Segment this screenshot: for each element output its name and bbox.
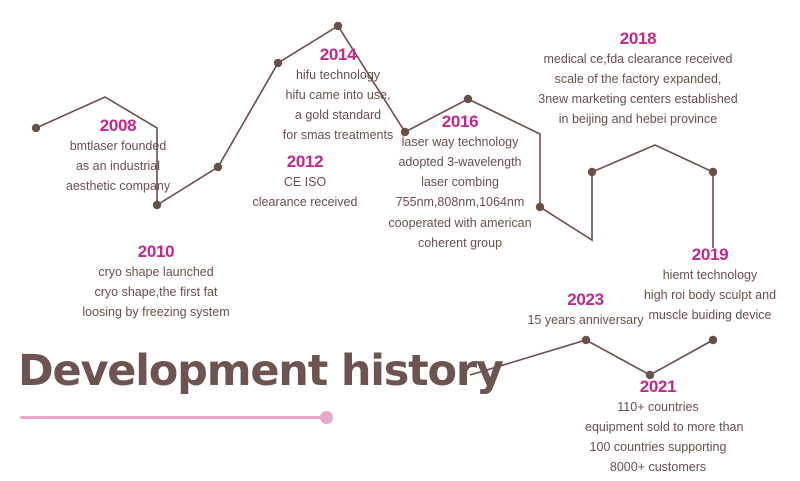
milestone-2008: 2008 bmtlaser founded as an industrial a… <box>43 117 193 196</box>
desc-line: 3new marketing centers established <box>530 89 746 109</box>
title-underline-bar <box>20 416 328 419</box>
page-title: Development history <box>18 350 503 393</box>
milestone-2012: 2012 CE ISO clearance received <box>240 153 370 212</box>
desc-line: cryo shape launched <box>66 262 246 282</box>
desc-line: coherent group <box>380 233 540 253</box>
milestone-year-2016: 2016 <box>380 113 540 132</box>
desc-line: as an industrial <box>43 156 193 176</box>
desc-line: adopted 3-wavelength <box>380 152 540 172</box>
desc-line: medical ce,fda clearance received <box>530 49 746 69</box>
desc-line: CE ISO <box>240 172 370 192</box>
desc-line: hiemt technology <box>636 265 784 285</box>
desc-line: scale of the factory expanded, <box>530 69 746 89</box>
milestone-2010: 2010 cryo shape launched cryo shape,the … <box>66 243 246 322</box>
milestone-year-2021: 2021 <box>585 378 731 397</box>
vertex-dot <box>709 168 717 176</box>
milestone-2021: 2021 110+ countries equipment sold to mo… <box>585 378 731 478</box>
vertex-dot <box>32 124 40 132</box>
desc-line: hifu technology <box>272 65 404 85</box>
title-underline <box>18 411 503 425</box>
milestone-year-2010: 2010 <box>66 243 246 262</box>
desc-line: 15 years anniversary <box>512 310 659 330</box>
milestone-year-2008: 2008 <box>43 117 193 136</box>
milestone-desc-2008: bmtlaser founded as an industrial aesthe… <box>43 136 193 197</box>
vertex-dot <box>588 168 596 176</box>
milestone-desc-2018: medical ce,fda clearance received scale … <box>530 49 746 130</box>
vertex-dot <box>709 336 717 344</box>
vertex-dot <box>464 95 472 103</box>
milestone-year-2018: 2018 <box>530 30 746 49</box>
milestone-desc-2021: 110+ countries equipment sold to more th… <box>585 397 731 478</box>
desc-line: aesthetic company <box>43 176 193 196</box>
desc-line: loosing by freezing system <box>66 302 246 322</box>
desc-line: cooperated with american <box>380 213 540 233</box>
desc-line: 8000+ customers <box>585 457 731 477</box>
milestone-year-2012: 2012 <box>240 153 370 172</box>
desc-line: in beijing and hebei province <box>530 109 746 129</box>
milestone-2016: 2016 laser way technology adopted 3-wave… <box>380 113 540 253</box>
desc-line: 755nm,808nm,1064nm <box>380 192 540 212</box>
title-block: Development history <box>18 350 503 425</box>
infographic-canvas: 2008 bmtlaser founded as an industrial a… <box>0 0 800 481</box>
desc-line: cryo shape,the first fat <box>66 282 246 302</box>
milestone-year-2014: 2014 <box>272 46 404 65</box>
milestone-year-2023: 2023 <box>512 291 659 310</box>
milestone-desc-2012: CE ISO clearance received <box>240 172 370 213</box>
desc-line: 110+ countries <box>585 397 731 417</box>
desc-line: equipment sold to more than <box>585 417 731 437</box>
milestone-desc-2023: 15 years anniversary <box>512 310 659 330</box>
desc-line: hifu came into use, <box>272 85 404 105</box>
title-underline-dot <box>320 411 333 424</box>
milestone-desc-2010: cryo shape launched cryo shape,the first… <box>66 262 246 323</box>
vertex-dot <box>582 336 590 344</box>
desc-line: laser combing <box>380 172 540 192</box>
vertex-dot <box>214 163 222 171</box>
milestone-desc-2016: laser way technology adopted 3-wavelengt… <box>380 132 540 254</box>
timeline-lower-path <box>470 340 713 375</box>
desc-line: 100 countries supporting <box>585 437 731 457</box>
milestone-2018: 2018 medical ce,fda clearance received s… <box>530 30 746 130</box>
desc-line: clearance received <box>240 192 370 212</box>
vertex-dot <box>153 201 161 209</box>
desc-line: laser way technology <box>380 132 540 152</box>
vertex-dot <box>334 22 342 30</box>
milestone-year-2019: 2019 <box>636 246 784 265</box>
milestone-2023: 2023 15 years anniversary <box>512 291 659 330</box>
desc-line: bmtlaser founded <box>43 136 193 156</box>
